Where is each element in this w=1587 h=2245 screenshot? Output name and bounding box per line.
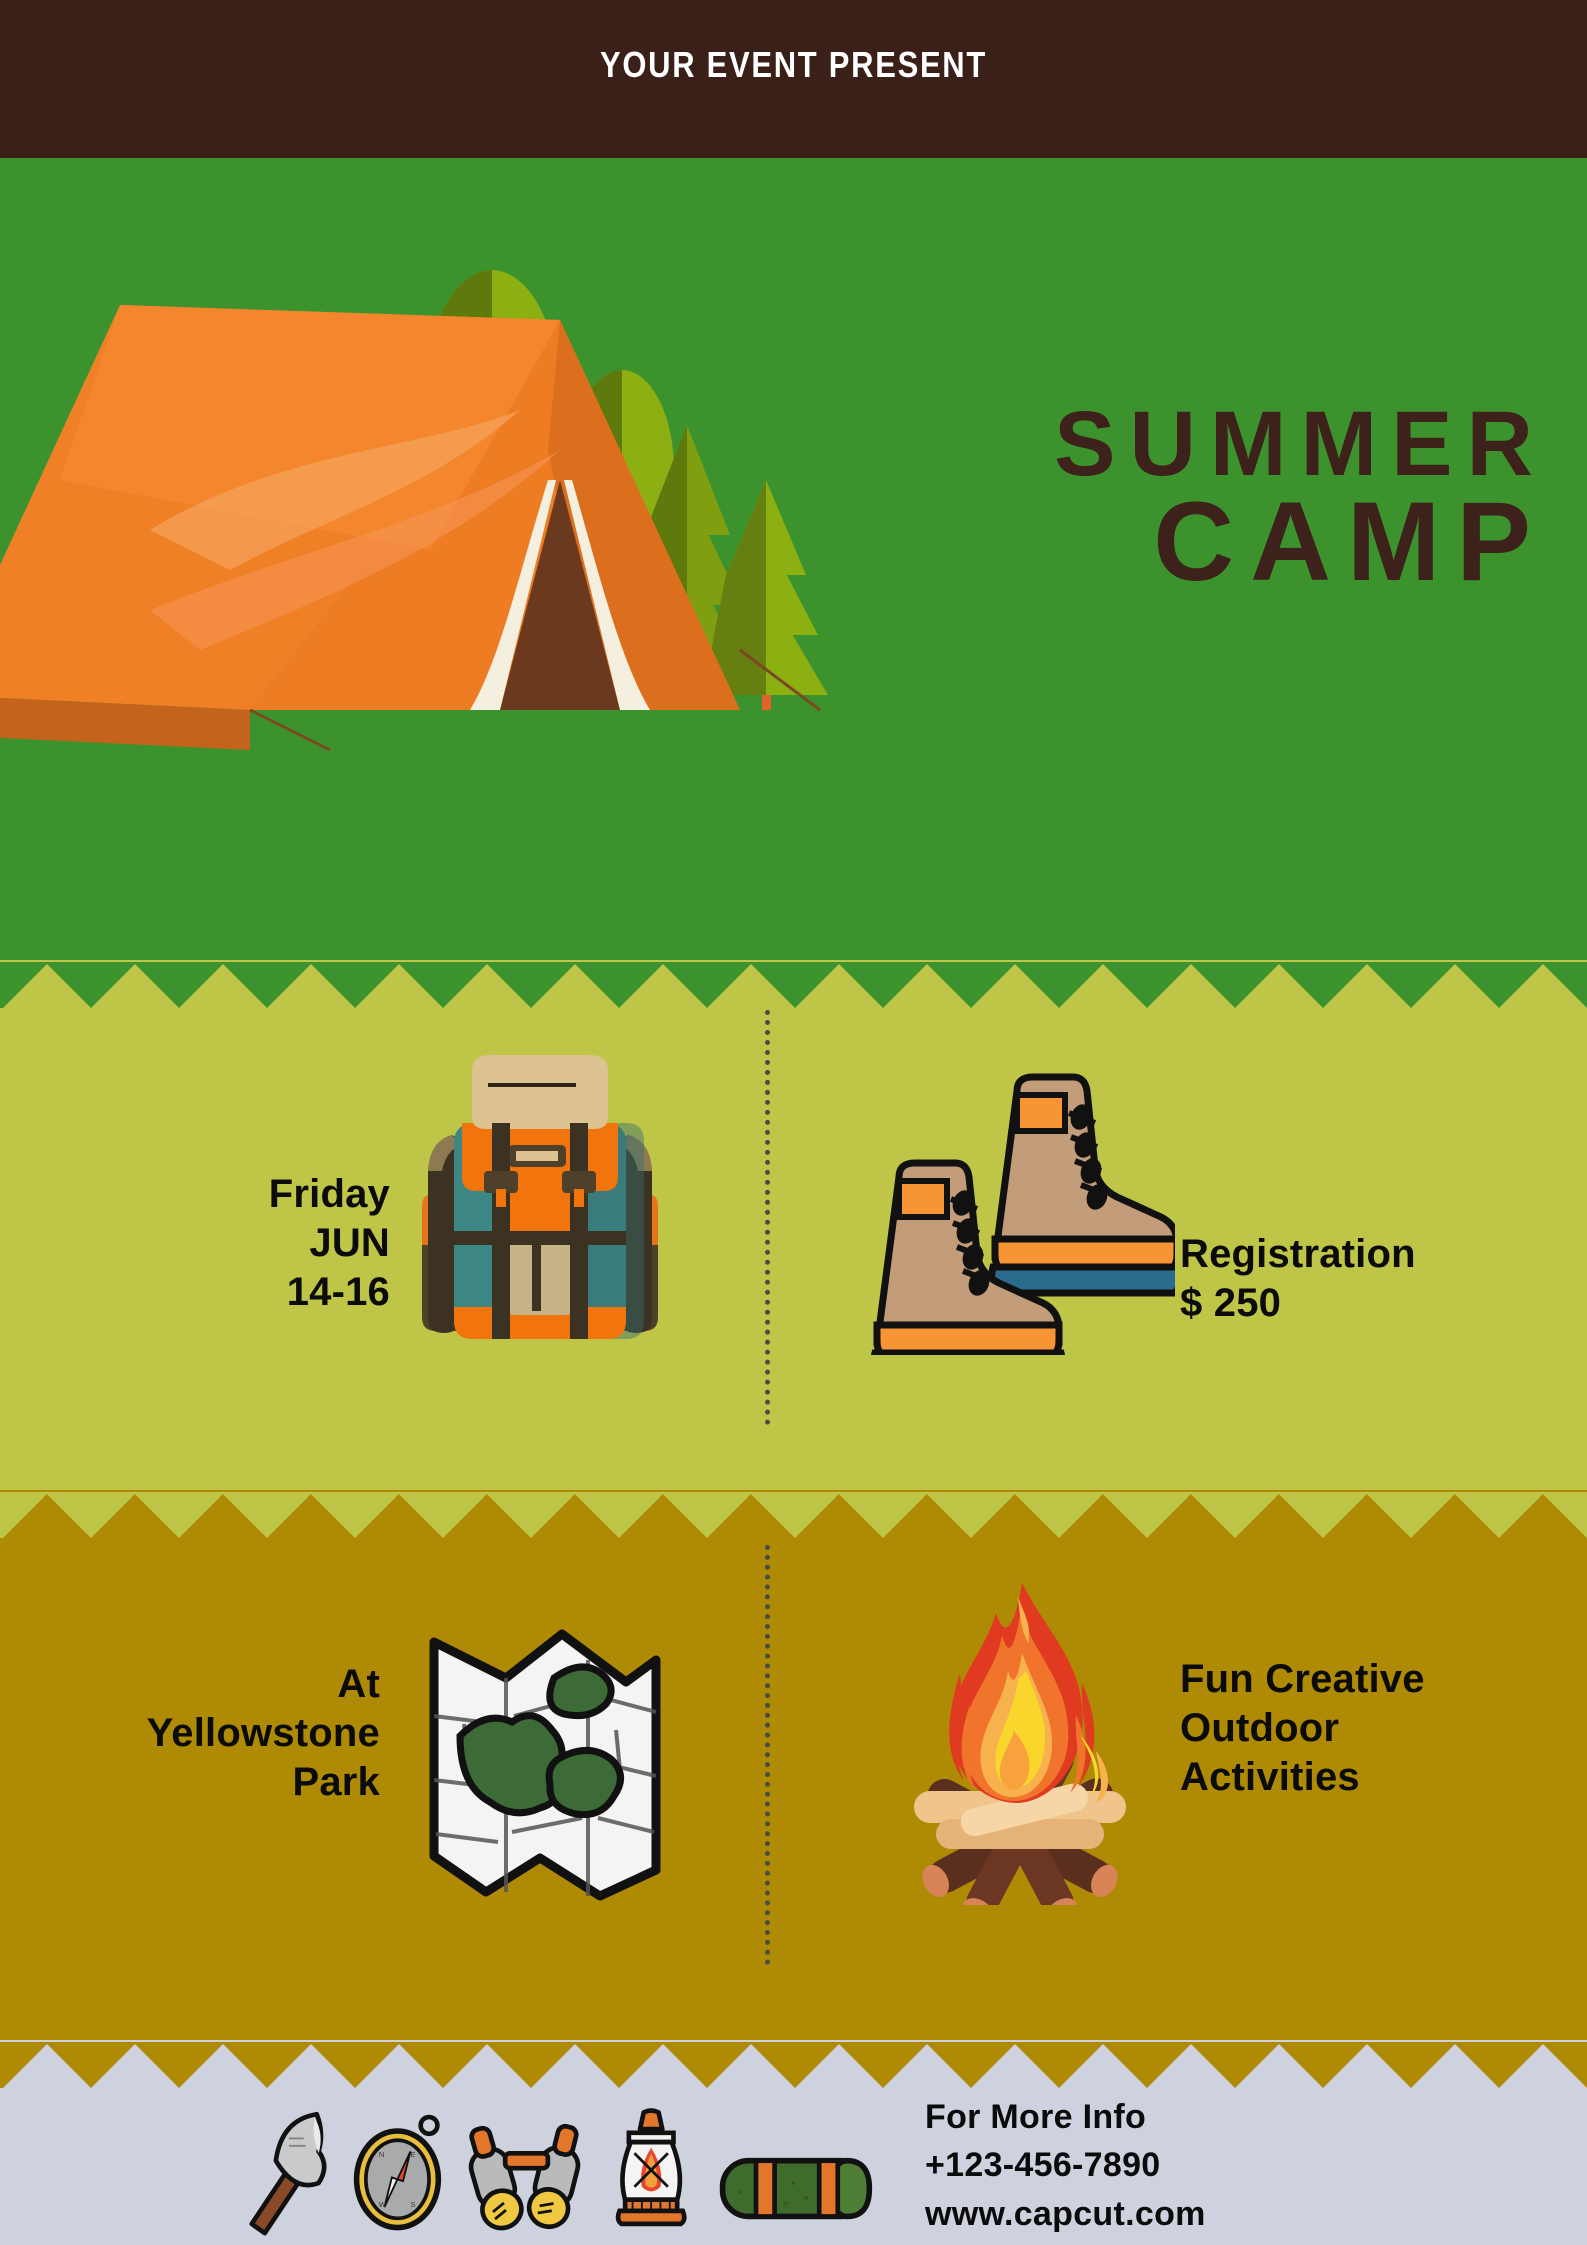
footer-contact-block: For More Info +123-456-7890 www.capcut.c… [925, 2093, 1545, 2238]
title-line-summer: SUMMER [947, 400, 1547, 488]
location-line-2: Yellowstone [20, 1709, 380, 1758]
hero-illustration [0, 150, 960, 850]
binoculars-icon [468, 2100, 585, 2240]
compass-icon: NE WS [351, 2100, 451, 2240]
backpack-icon [410, 1045, 670, 1365]
location-line-3: Park [20, 1758, 380, 1807]
poster-title: SUMMER CAMP [947, 400, 1547, 596]
svg-text:S: S [411, 2200, 416, 2209]
zigzag-divider-4 [0, 2042, 1587, 2088]
header-title: YOUR EVENT PRESENT [111, 44, 1476, 86]
activities-line-1: Fun Creative [1180, 1655, 1560, 1704]
summer-camp-poster: YOUR EVENT PRESENT [0, 0, 1587, 2245]
date-line-3: 14-16 [110, 1268, 390, 1317]
folded-map-icon [410, 1620, 680, 1910]
activities-line-2: Outdoor [1180, 1704, 1560, 1753]
location-text-block: At Yellowstone Park [20, 1660, 380, 1806]
sleeping-bag-icon [717, 2100, 875, 2240]
svg-text:W: W [379, 2200, 386, 2209]
registration-text-block: Registration $ 250 [1180, 1230, 1540, 1328]
footer-icon-row: NE WS [235, 2090, 875, 2240]
zigzag-divider-2 [0, 962, 1587, 1008]
dotted-divider-bottom [765, 1545, 770, 1965]
date-line-2: JUN [110, 1219, 390, 1268]
footer-info-line-1: For More Info [925, 2093, 1545, 2141]
footer-info-website[interactable]: www.capcut.com [925, 2190, 1545, 2238]
date-line-1: Friday [110, 1170, 390, 1219]
activities-line-3: Activities [1180, 1753, 1560, 1802]
campfire-icon [890, 1575, 1150, 1905]
date-text-block: Friday JUN 14-16 [110, 1170, 390, 1316]
svg-text:N: N [379, 2150, 384, 2159]
registration-line-1: Registration [1180, 1230, 1540, 1279]
dotted-divider-top [765, 1010, 770, 1425]
footer-info-phone[interactable]: +123-456-7890 [925, 2141, 1545, 2189]
activities-text-block: Fun Creative Outdoor Activities [1180, 1655, 1560, 1801]
hiking-boots-icon [845, 1055, 1175, 1355]
svg-text:E: E [411, 2150, 416, 2159]
title-line-camp: CAMP [947, 488, 1547, 596]
location-line-1: At [20, 1660, 380, 1709]
zigzag-divider-3 [0, 1492, 1587, 1538]
registration-line-2: $ 250 [1180, 1279, 1540, 1328]
lantern-icon [601, 2100, 701, 2240]
axe-icon [235, 2100, 335, 2240]
